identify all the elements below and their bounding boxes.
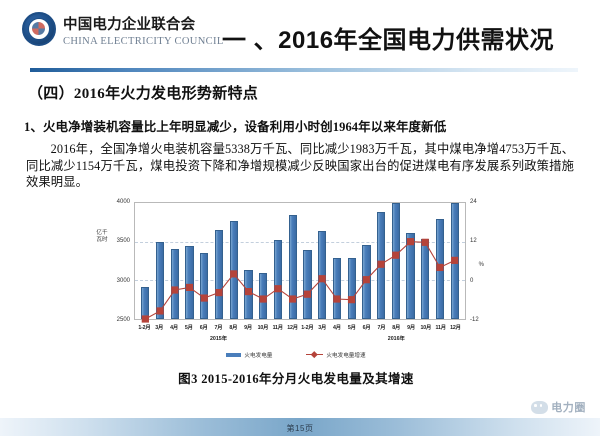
line-marker [348,296,355,303]
chart: 亿千瓦时 % 2500300035004000 -1201224 1-2月3月4… [96,196,496,346]
line-marker [260,295,267,302]
x-tick-label: 7月 [211,322,226,334]
line-marker [318,275,325,282]
page-number: 第15页 [0,423,600,434]
x-tick-label: 12月 [448,322,463,334]
line-marker [377,261,384,268]
y2-tick-label: 24 [467,199,496,205]
x-group-label: 2016年 [388,334,405,342]
x-tick-label: 11月 [270,322,285,334]
header-divider [30,68,578,72]
x-tick-label: 9月 [404,322,419,334]
line-marker [156,307,163,314]
org-name-cn: 中国电力企业联合会 [63,16,224,34]
line-marker [392,252,399,259]
line-marker [363,276,370,283]
line-marker [245,288,252,295]
watermark-label: 电力圈 [551,399,586,415]
line-marker [201,294,208,301]
x-axis-group-labels: 2015年2016年 [134,334,466,344]
y2-tick-label: -12 [467,317,496,323]
y-tick-label: 4000 [96,199,130,205]
line-marker [230,270,237,277]
x-tick-label: 9月 [241,322,256,334]
y-tick-label: 3500 [96,238,130,244]
x-axis-ticks: 1-2月3月4月5月6月7月8月9月10月11月12月1-2月3月4月5月6月7… [134,322,466,334]
x-tick-label: 1-2月 [137,322,152,334]
line-marker [436,264,443,271]
x-tick-label: 8月 [389,322,404,334]
x-tick-label: 10月 [256,322,271,334]
section-heading: （四）2016年火力发电形势新特点 [28,82,600,103]
line-marker [451,257,458,264]
plot-area [134,202,466,320]
figure-3: 亿千瓦时 % 2500300035004000 -1201224 1-2月3月4… [96,196,496,381]
x-tick-label: 10月 [418,322,433,334]
cec-emblem-icon [22,12,56,46]
x-group-label: 2015年 [210,334,227,342]
x-tick-label: 12月 [285,322,300,334]
line-marker [407,238,414,245]
line-marker [186,284,193,291]
x-tick-label: 6月 [196,322,211,334]
line-marker [304,291,311,298]
brand-logo: 中国电力企业联合会 CHINA ELECTRICITY COUNCIL [22,12,224,48]
x-tick-label: 1-2月 [300,322,315,334]
line-marker [333,295,340,302]
legend-label-bar: 火电发电量 [244,351,272,359]
cec-emblem-inner [28,18,50,40]
line-marker [422,239,429,246]
x-tick-label: 6月 [359,322,374,334]
watermark: 电力圈 [531,399,586,415]
x-tick-label: 7月 [374,322,389,334]
x-tick-label: 5月 [181,322,196,334]
legend-line-swatch [306,352,323,357]
wechat-icon [531,401,548,414]
line-marker [274,285,281,292]
page-header: 中国电力企业联合会 CHINA ELECTRICITY COUNCIL 一 、2… [0,0,600,66]
legend-bar-swatch [226,353,241,357]
x-tick-label: 8月 [226,322,241,334]
y2-tick-label: 0 [467,278,496,284]
legend-label-line: 火电发电量增速 [326,351,365,359]
figure-caption: 图3 2015-2016年分月火电发电量及其增速 [96,368,496,387]
legend-item-line: 火电发电量增速 [306,351,365,359]
x-tick-label: 3月 [315,322,330,334]
body-paragraph: 2016年，全国净增火电装机容量5338万千瓦、同比减少1983万千瓦，其中煤电… [26,141,574,191]
y-tick-label: 3000 [96,278,130,284]
line-marker [289,295,296,302]
y-tick-label: 2500 [96,317,130,323]
chart-legend: 火电发电量 火电发电量增速 [96,348,496,361]
legend-item-bar: 火电发电量 [226,351,272,359]
x-tick-label: 11月 [433,322,448,334]
trend-line [145,242,454,319]
y2-axis-label: % [479,262,484,268]
y2-tick-label: 12 [467,238,496,244]
x-tick-label: 3月 [152,322,167,334]
line-series [135,203,465,319]
x-tick-label: 4月 [330,322,345,334]
x-tick-label: 4月 [167,322,182,334]
org-name-en: CHINA ELECTRICITY COUNCIL [63,35,224,48]
page-title: 一 、2016年全国电力供需状况 [222,20,554,55]
sub-heading: 1、火电净增装机容量比上年明显减少，设备利用小时创1964年以来年度新低 [24,116,600,135]
x-tick-label: 5月 [344,322,359,334]
slide-content: （四）2016年火力发电形势新特点 1、火电净增装机容量比上年明显减少，设备利用… [0,76,600,191]
brand-text: 中国电力企业联合会 CHINA ELECTRICITY COUNCIL [63,12,224,48]
line-marker [215,289,222,296]
line-marker [171,286,178,293]
